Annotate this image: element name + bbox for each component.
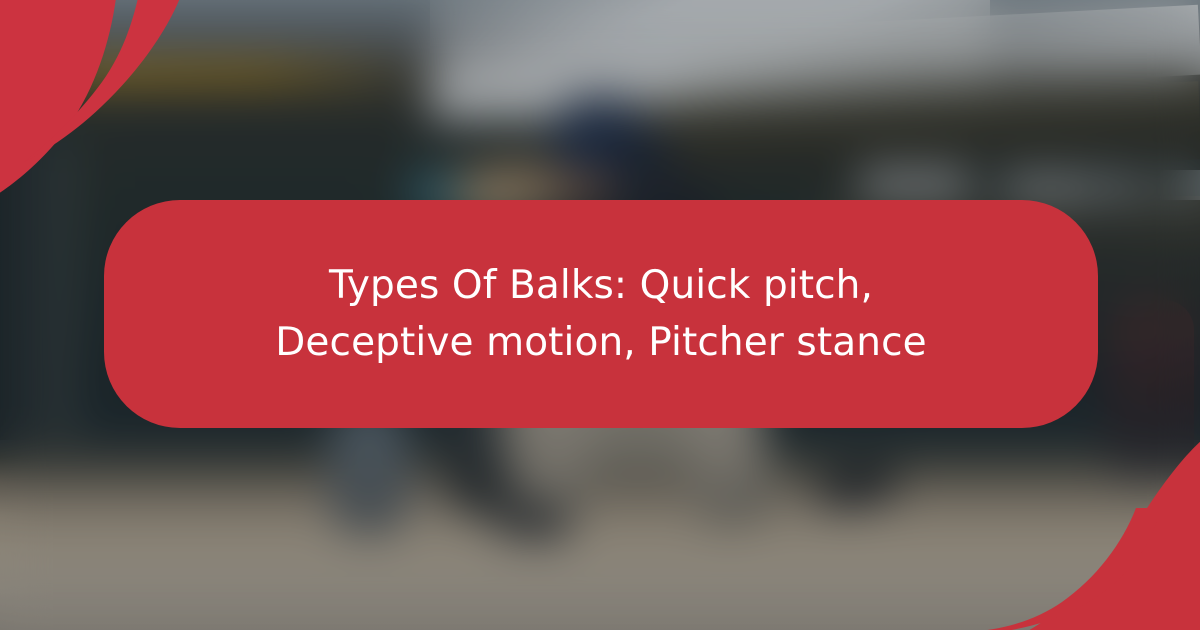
page-title: Types Of Balks: Quick pitch, Deceptive m… [261, 257, 941, 371]
og-image-canvas: Types Of Balks: Quick pitch, Deceptive m… [0, 0, 1200, 630]
title-card: Types Of Balks: Quick pitch, Deceptive m… [104, 200, 1098, 428]
